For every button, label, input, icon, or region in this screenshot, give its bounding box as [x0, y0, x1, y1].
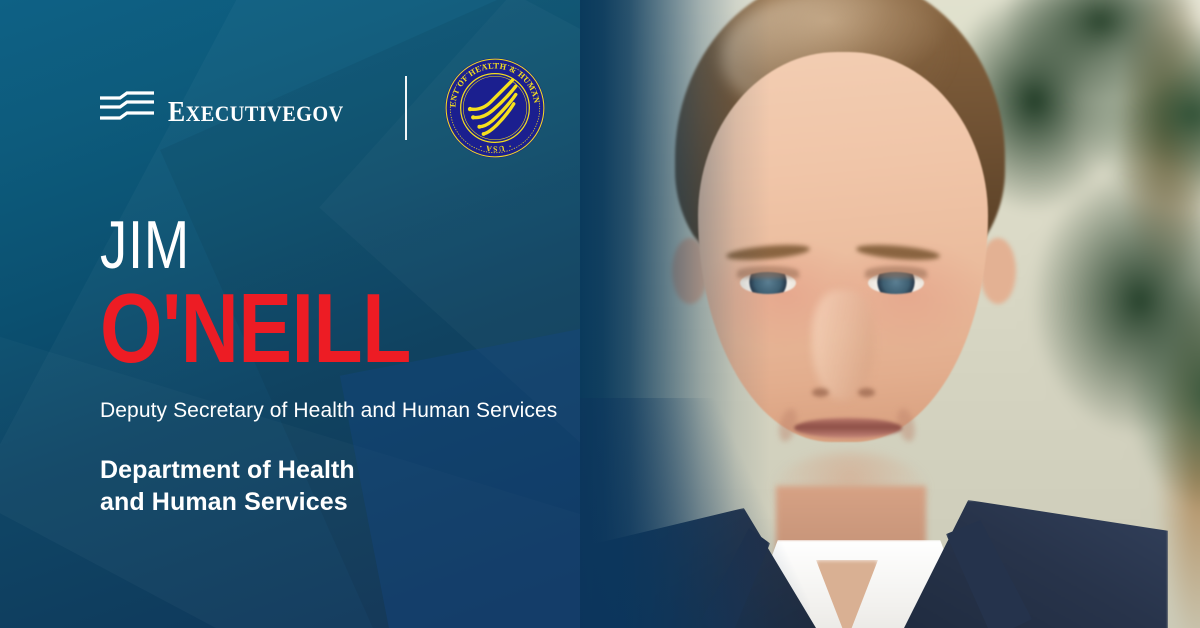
executivegov-logo[interactable]: ExecutiveGov [100, 88, 359, 128]
vertical-divider-icon [405, 76, 407, 140]
photo-nostril-right [858, 388, 875, 397]
person-name-block: JIM O'NEILL [100, 214, 479, 375]
photo-mouth [794, 418, 902, 438]
portrait-photo [580, 0, 1200, 628]
photo-bottom-left-fade [580, 398, 810, 628]
person-organization-line-1: Department of Health [100, 455, 557, 487]
person-title-block: Deputy Secretary of Health and Human Ser… [100, 398, 557, 518]
photo-nose [812, 290, 874, 400]
photo-nostril-left [812, 388, 829, 397]
hhs-seal-icon: DEPARTMENT OF HEALTH & HUMAN SERVICES · … [443, 56, 547, 160]
executivegov-wordmark: ExecutiveGov [168, 88, 344, 128]
person-organization-line-2: and Human Services [100, 487, 557, 519]
photo-eyelid-right [865, 266, 927, 278]
header-logos: ExecutiveGov DEPARTMENT OF HEALTH & HUMA… [100, 56, 547, 160]
executivegov-wave-mark-icon [100, 91, 154, 125]
person-organization: Department of Health and Human Services [100, 455, 557, 518]
person-first-name: JIM [100, 214, 403, 278]
person-last-name: O'NEILL [100, 282, 411, 375]
announcement-card: ExecutiveGov DEPARTMENT OF HEALTH & HUMA… [0, 0, 1200, 628]
person-role: Deputy Secretary of Health and Human Ser… [100, 398, 557, 423]
